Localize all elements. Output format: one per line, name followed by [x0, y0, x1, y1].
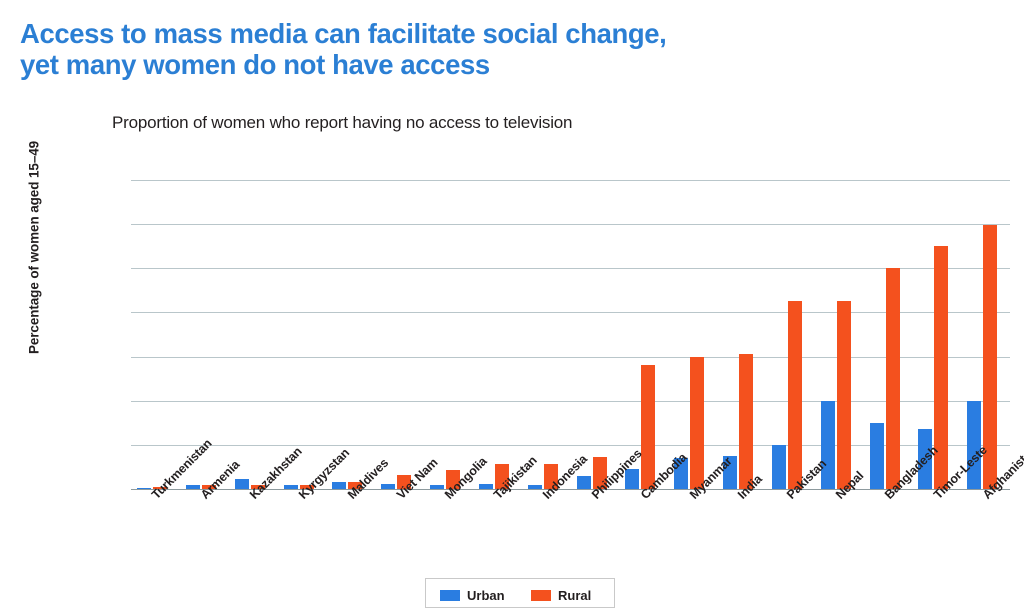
- bar-urban: [235, 479, 249, 489]
- bar-rural: [641, 365, 655, 489]
- legend-label-rural: Rural: [558, 588, 591, 603]
- bar-urban: [821, 401, 835, 489]
- bar-group: [571, 180, 620, 489]
- bar-urban: [332, 482, 346, 489]
- bar-group: [961, 180, 1010, 489]
- legend-entry-rural: Rural: [531, 588, 591, 603]
- x-axis-labels: TurkmenistanArmeniaKazakhstanKyrgyzstanM…: [131, 492, 1010, 592]
- plot-area: 010203040506070: [131, 180, 1010, 489]
- bar-group: [473, 180, 522, 489]
- bar-series-container: [131, 180, 1010, 489]
- bar-group: [278, 180, 327, 489]
- bar-rural: [886, 268, 900, 489]
- bar-rural: [739, 354, 753, 489]
- legend-swatch-urban: [440, 590, 460, 601]
- bar-group: [375, 180, 424, 489]
- bar-urban: [381, 484, 395, 489]
- bar-urban: [577, 476, 591, 489]
- bar-rural: [837, 301, 851, 489]
- bar-urban: [284, 485, 298, 489]
- y-axis-title: Percentage of women aged 15–49: [27, 118, 42, 378]
- bar-urban: [479, 484, 493, 489]
- bar-group: [815, 180, 864, 489]
- bar-urban: [870, 423, 884, 489]
- bar-urban: [528, 485, 542, 489]
- bar-group: [229, 180, 278, 489]
- bar-urban: [137, 488, 151, 490]
- bar-group: [864, 180, 913, 489]
- legend-label-urban: Urban: [467, 588, 505, 603]
- legend-entry-urban: Urban: [440, 588, 505, 603]
- bar-rural: [690, 357, 704, 489]
- bar-group: [912, 180, 961, 489]
- bar-urban: [772, 445, 786, 489]
- chart-legend: Urban Rural: [425, 578, 615, 608]
- bar-group: [766, 180, 815, 489]
- chart-figure: Percentage of women aged 15–49 010203040…: [0, 0, 1024, 600]
- bar-group: [424, 180, 473, 489]
- legend-swatch-rural: [531, 590, 551, 601]
- bar-group: [619, 180, 668, 489]
- bar-rural: [788, 301, 802, 489]
- bar-group: [131, 180, 180, 489]
- bar-group: [717, 180, 766, 489]
- bar-urban: [430, 485, 444, 489]
- bar-urban: [186, 485, 200, 489]
- bar-group: [522, 180, 571, 489]
- bar-group: [326, 180, 375, 489]
- bar-group: [668, 180, 717, 489]
